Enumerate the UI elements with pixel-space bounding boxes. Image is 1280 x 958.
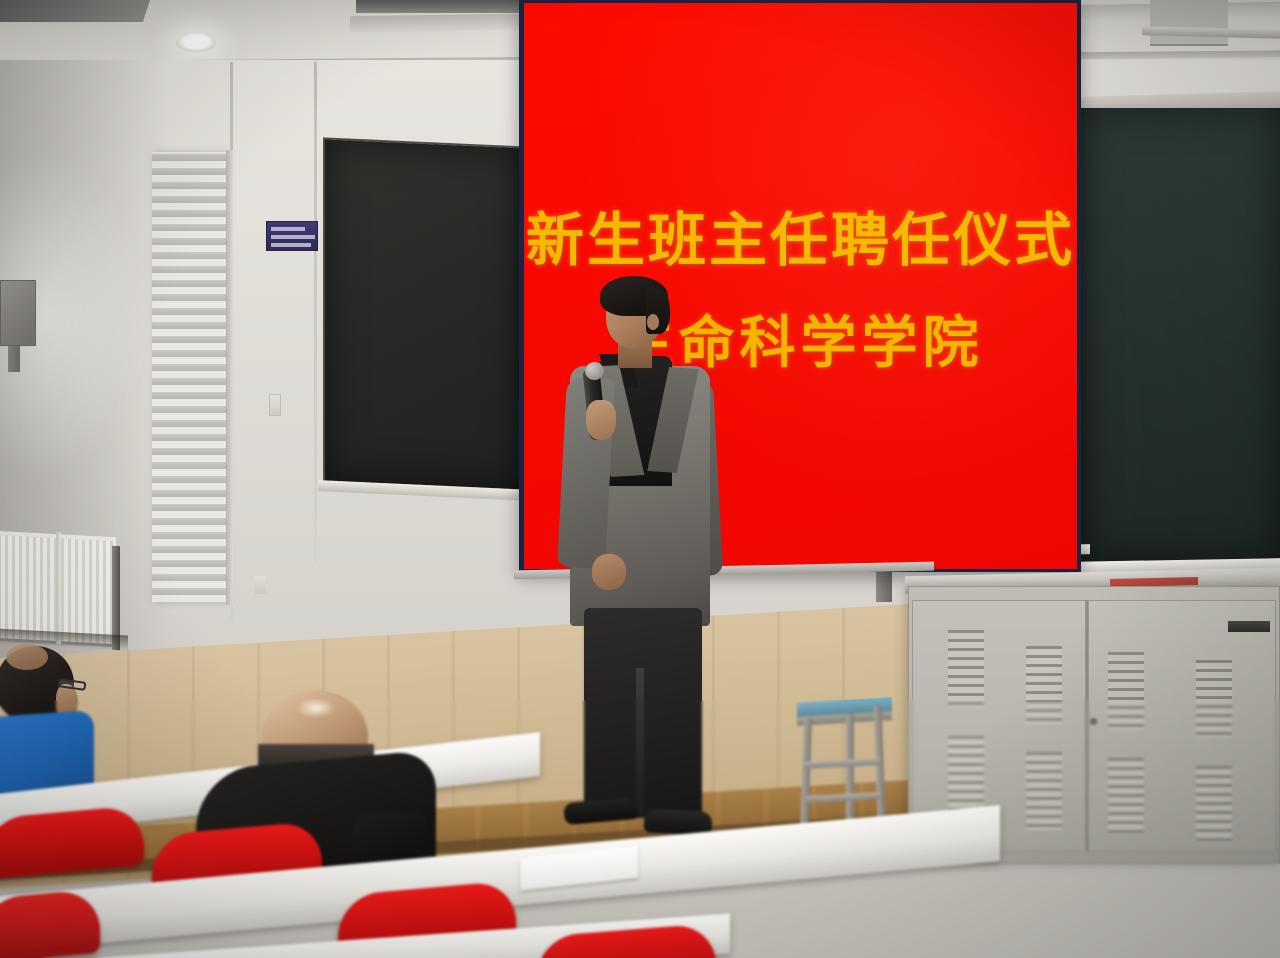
louver-slat	[152, 280, 226, 287]
louver-slat	[152, 224, 226, 231]
cabinet-nameplate	[1228, 621, 1270, 632]
cabinet-vent	[1196, 660, 1232, 738]
louver-slat	[152, 364, 226, 371]
louvered-wall-grille	[152, 152, 226, 602]
cabinet-vent	[948, 630, 984, 708]
louver-slat	[152, 392, 226, 399]
louver-slat	[152, 238, 226, 245]
wall-notice-sign	[266, 221, 318, 251]
speaker-leg-separation	[636, 668, 644, 818]
louver-slat	[152, 434, 226, 441]
louver-slat	[152, 504, 226, 511]
speaker-other-hand	[592, 554, 626, 590]
cabinet-vent	[948, 736, 984, 814]
cabinet-lock-icon[interactable]	[1090, 718, 1097, 725]
louver-slat	[152, 546, 226, 553]
speaker-ear	[647, 314, 659, 330]
left-chalkboard	[323, 137, 528, 491]
louver-slat	[152, 266, 226, 273]
screen-title-text: 新生班主任聘任仪式	[524, 193, 1077, 277]
wall-mounted-box	[0, 280, 36, 346]
louver-slat	[152, 350, 226, 357]
ceiling-recess-left	[0, 0, 150, 22]
louver-slat	[152, 574, 226, 581]
louver-slat	[152, 252, 226, 259]
wall-switch-plate[interactable]	[269, 394, 281, 416]
attendee-2-head-highlight	[296, 698, 336, 718]
cabinet-door-split	[1086, 600, 1088, 852]
cabinet-vent	[1026, 646, 1062, 724]
auditorium-seat[interactable]	[0, 889, 100, 958]
ceiling-vent	[1150, 0, 1228, 46]
louver-slat	[152, 406, 226, 413]
louver-slat	[152, 182, 226, 189]
louver-panel-edge	[226, 150, 233, 605]
louver-slat	[152, 518, 226, 525]
right-chalkboard	[1075, 108, 1280, 563]
wall-sign-text-line	[271, 227, 305, 231]
cabinet-vent	[1026, 752, 1062, 830]
cabinet-vent	[1108, 758, 1144, 834]
louver-slat	[152, 378, 226, 385]
louver-slat	[152, 210, 226, 217]
louver-slat	[152, 196, 226, 203]
louver-slat	[152, 322, 226, 329]
cabinet-vent	[1196, 766, 1232, 842]
cabinet-vent	[1108, 652, 1144, 730]
louver-slat	[152, 420, 226, 427]
wall-sign-text-line	[271, 235, 315, 239]
louver-slat	[152, 168, 226, 175]
louver-slat	[152, 294, 226, 301]
wall-sign-text-line	[271, 243, 311, 247]
louver-slat	[152, 490, 226, 497]
speaker-hand-holding-mic	[586, 400, 616, 440]
wall-box-conduit	[8, 346, 20, 372]
louver-slat	[152, 308, 226, 315]
ceiling-downlight-icon	[176, 33, 216, 52]
attendee-1-scalp	[6, 644, 48, 670]
wall-seam	[314, 62, 317, 562]
speaker-person	[548, 282, 728, 842]
louver-slat	[152, 532, 226, 539]
louver-slat	[152, 462, 226, 469]
louver-slat	[152, 560, 226, 567]
louver-slat	[152, 588, 226, 595]
louver-slat	[152, 154, 226, 161]
louver-slat	[152, 476, 226, 483]
wall-outlet-plate[interactable]	[255, 576, 266, 594]
lecture-hall-photo: 新生班主任聘任仪式 生命科学学院	[0, 0, 1280, 958]
speaker-shoe-left	[563, 797, 639, 825]
louver-slat	[152, 336, 226, 343]
radiator-section-seam	[56, 532, 61, 644]
louver-slat	[152, 448, 226, 455]
